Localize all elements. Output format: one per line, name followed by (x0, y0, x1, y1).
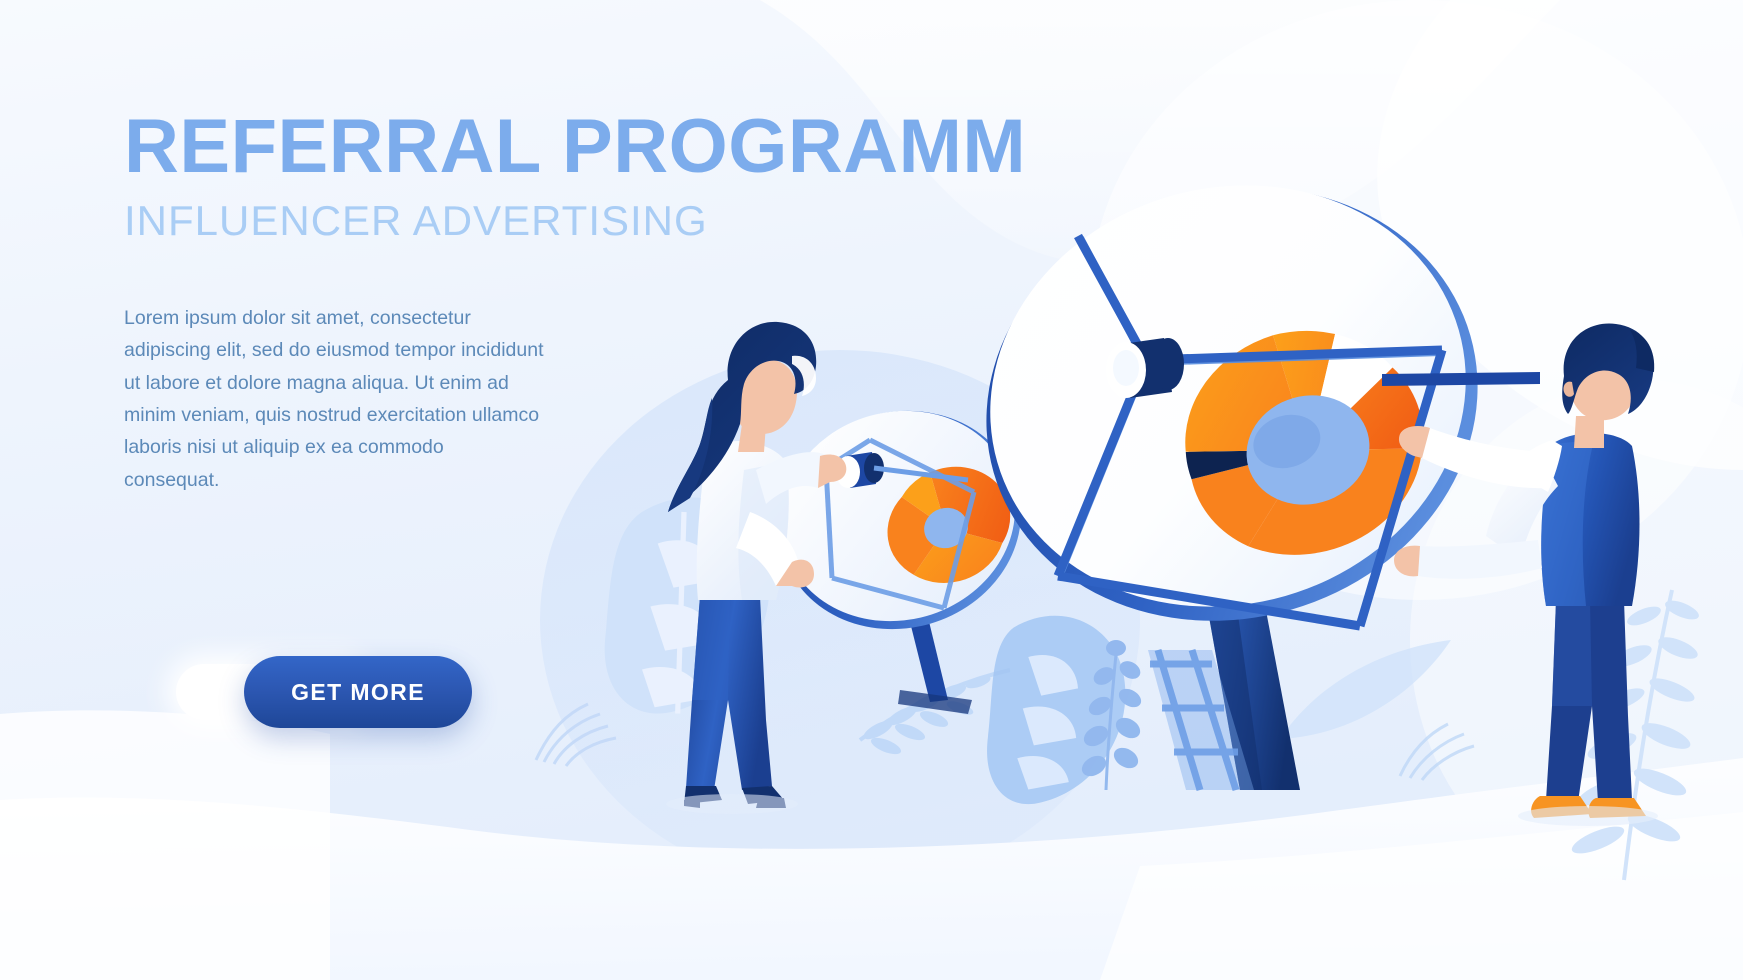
hero-description: Lorem ipsum dolor sit amet, consectetur … (124, 302, 544, 496)
page-title: REFERRAL PROGRAMM (124, 112, 1104, 182)
get-more-button[interactable]: GET MORE (244, 656, 472, 728)
hero-stage: REFERRAL PROGRAMM INFLUENCER ADVERTISING… (0, 0, 1743, 980)
hero-content: REFERRAL PROGRAMM INFLUENCER ADVERTISING… (124, 112, 1104, 496)
page-subtitle: INFLUENCER ADVERTISING (124, 200, 1104, 242)
dish-feed-horn (1106, 338, 1184, 398)
cta-area: GET MORE (176, 656, 476, 734)
dish-tripod-base (1148, 600, 1300, 790)
